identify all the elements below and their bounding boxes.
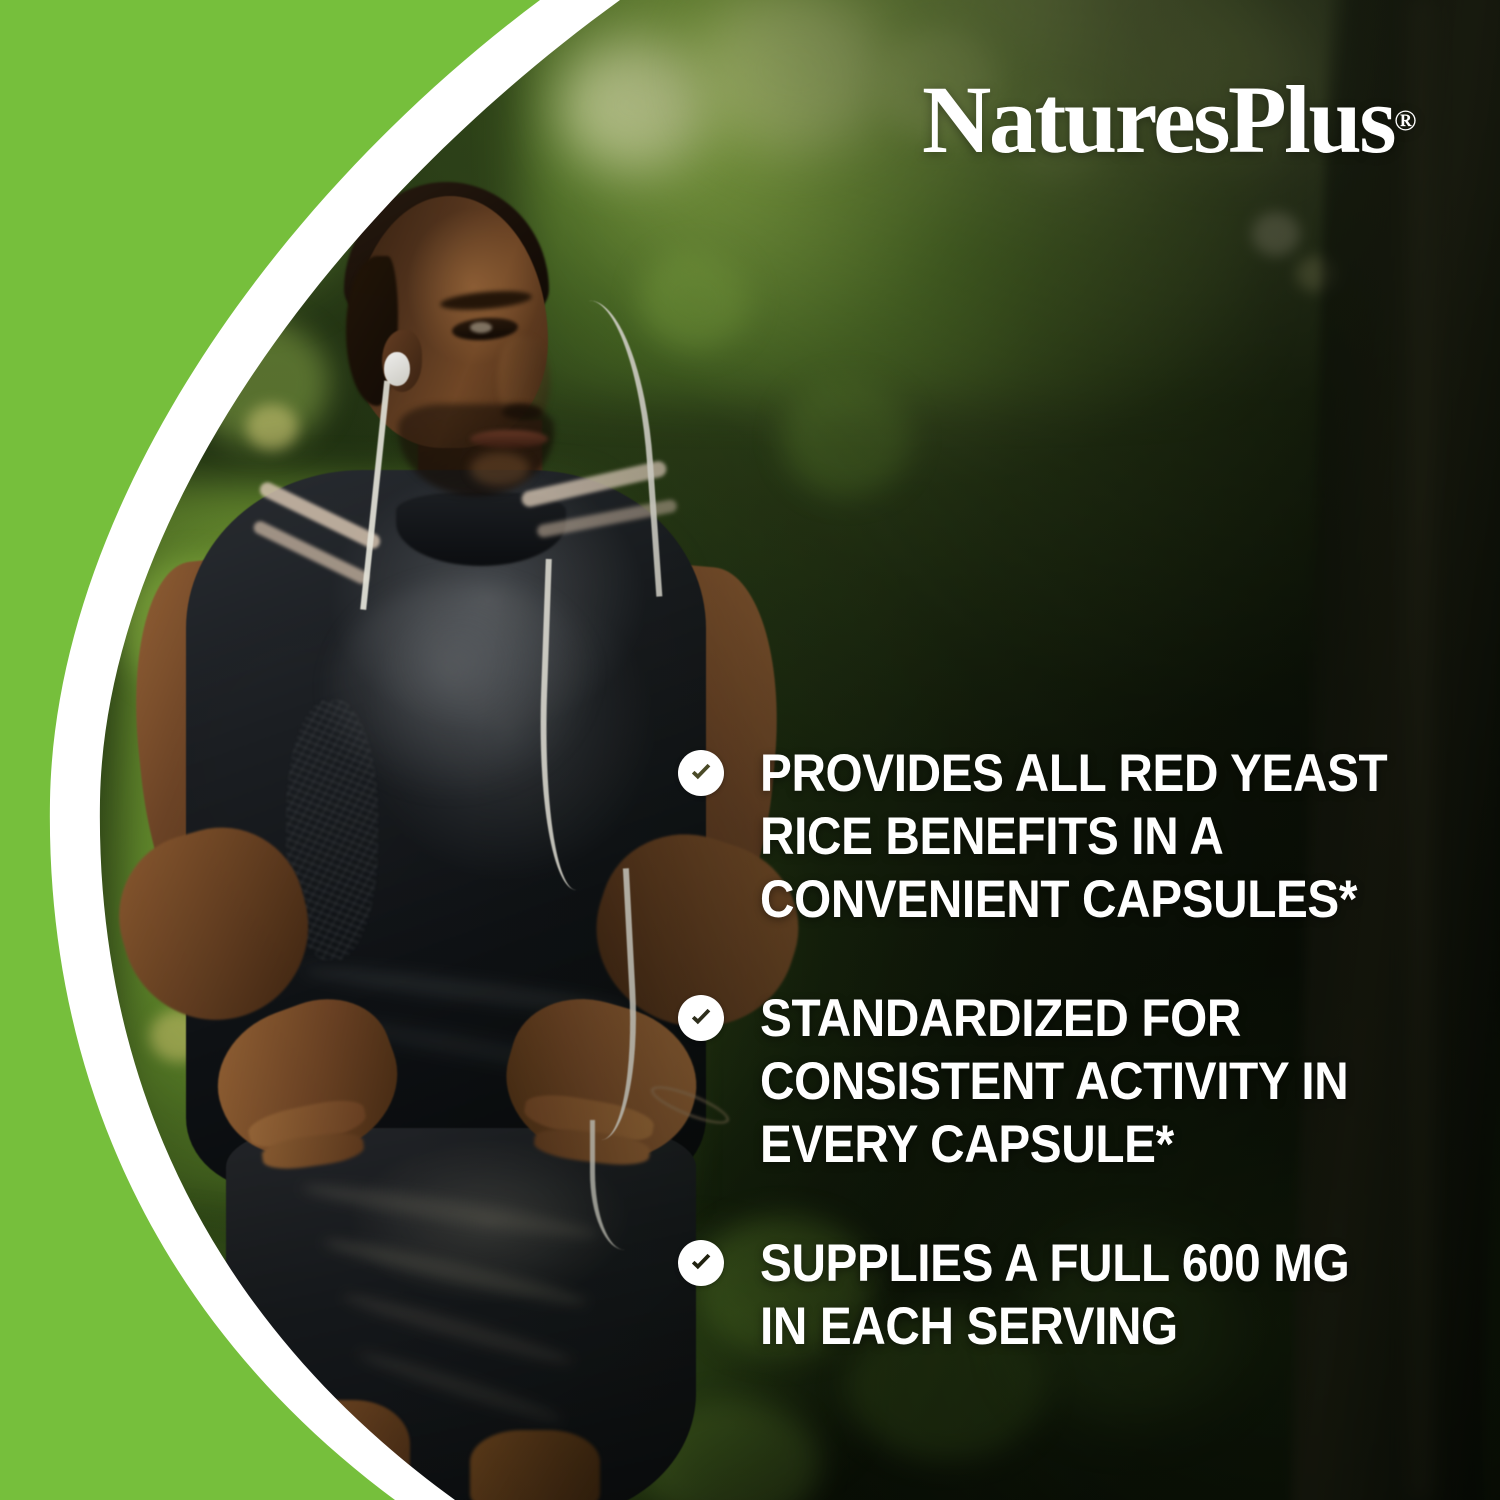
check-circle-icon	[678, 1240, 724, 1286]
brand-logo-text: NaturesPlus	[922, 66, 1394, 173]
list-item: SUPPLIES A FULL 600 MG IN EACH SERVING	[678, 1232, 1458, 1358]
benefit-text: STANDARDIZED FOR CONSISTENT ACTIVITY IN …	[760, 987, 1348, 1176]
check-circle-icon	[678, 750, 724, 796]
benefit-list: PROVIDES ALL RED YEAST RICE BENEFITS IN …	[678, 742, 1458, 1358]
list-item: PROVIDES ALL RED YEAST RICE BENEFITS IN …	[678, 742, 1458, 931]
product-feature-banner: NaturesPlus® PROVIDES ALL RED YEAST RICE…	[0, 0, 1500, 1500]
benefit-text: SUPPLIES A FULL 600 MG IN EACH SERVING	[760, 1232, 1349, 1358]
registered-trademark-icon: ®	[1394, 104, 1416, 137]
benefit-text: PROVIDES ALL RED YEAST RICE BENEFITS IN …	[760, 742, 1387, 931]
check-circle-icon	[678, 995, 724, 1041]
brand-logo: NaturesPlus®	[922, 72, 1417, 168]
list-item: STANDARDIZED FOR CONSISTENT ACTIVITY IN …	[678, 987, 1458, 1176]
